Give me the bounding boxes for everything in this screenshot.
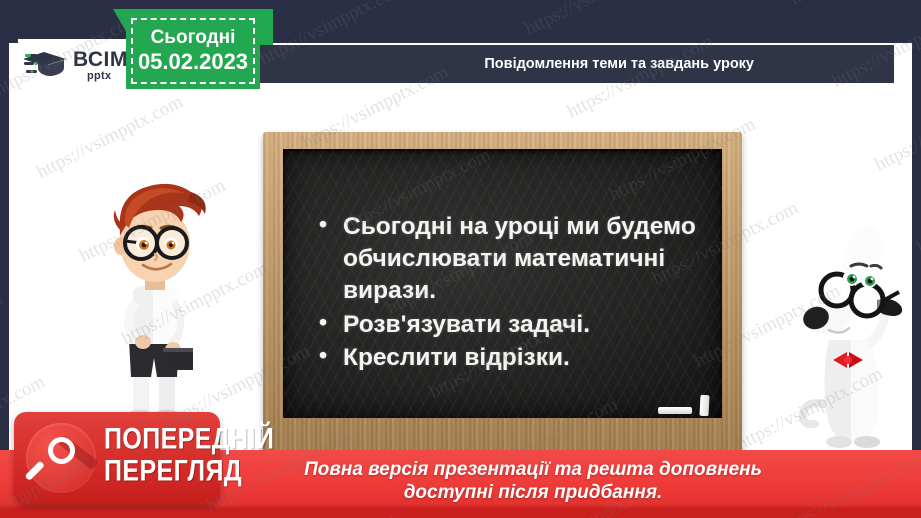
brand-logo[interactable]: ВСІМ pptx xyxy=(18,39,138,91)
list-item: Сьогодні на уроці ми будемо обчислювати … xyxy=(317,211,708,307)
preview-button-line2: ПЕРЕГЛЯД xyxy=(104,457,274,487)
page-title: Повідомлення теми та завдань уроку xyxy=(484,56,754,72)
purchase-notice-line1: Повна версія презентації та решта доповн… xyxy=(304,458,762,481)
chalk-piece-horizontal xyxy=(658,407,692,414)
chalk-piece-vertical xyxy=(699,395,709,416)
date-badge-label: Сьогодні xyxy=(151,27,236,49)
magnifier-icon xyxy=(26,423,96,493)
preview-button[interactable]: ПОПЕРЕДНІЙ ПЕРЕГЛЯД xyxy=(14,412,220,504)
slide-left-border xyxy=(0,0,9,518)
blackboard-surface: Сьогодні на уроці ми будемо обчислювати … xyxy=(283,149,722,418)
magnifier-lens xyxy=(48,437,75,464)
purchase-notice-line2: доступні після придбання. xyxy=(304,481,762,504)
brand-suffix: pptx xyxy=(87,71,128,82)
list-item: Креслити відрізки. xyxy=(317,342,708,374)
slide-header-bar: Повідомлення теми та завдань уроку xyxy=(257,45,894,83)
purchase-notice-text: Повна версія презентації та решта доповн… xyxy=(304,458,762,504)
slide-right-border xyxy=(912,0,921,518)
date-badge: Сьогодні 05.02.2023 xyxy=(126,13,260,89)
magnifier-handle xyxy=(24,461,45,482)
graduation-cap-icon xyxy=(24,48,70,82)
blackboard: Сьогодні на уроці ми будемо обчислювати … xyxy=(263,132,742,454)
brand-name: ВСІМ xyxy=(73,49,128,70)
dog-character-illustration xyxy=(789,214,912,454)
boy-character-illustration xyxy=(67,172,232,417)
preview-button-line1: ПОПЕРЕДНІЙ xyxy=(104,425,274,455)
preview-button-label: ПОПЕРЕДНІЙ ПЕРЕГЛЯД xyxy=(104,425,274,491)
list-item: Розв'язувати задачі. xyxy=(317,309,708,341)
lesson-objectives-list: Сьогодні на уроці ми будемо обчислювати … xyxy=(317,211,708,376)
presentation-slide: ВСІМ pptx Сьогодні 05.02.2023 Повідомлен… xyxy=(0,0,921,518)
date-badge-value: 05.02.2023 xyxy=(138,49,248,75)
brand-wordmark: ВСІМ pptx xyxy=(73,49,128,82)
